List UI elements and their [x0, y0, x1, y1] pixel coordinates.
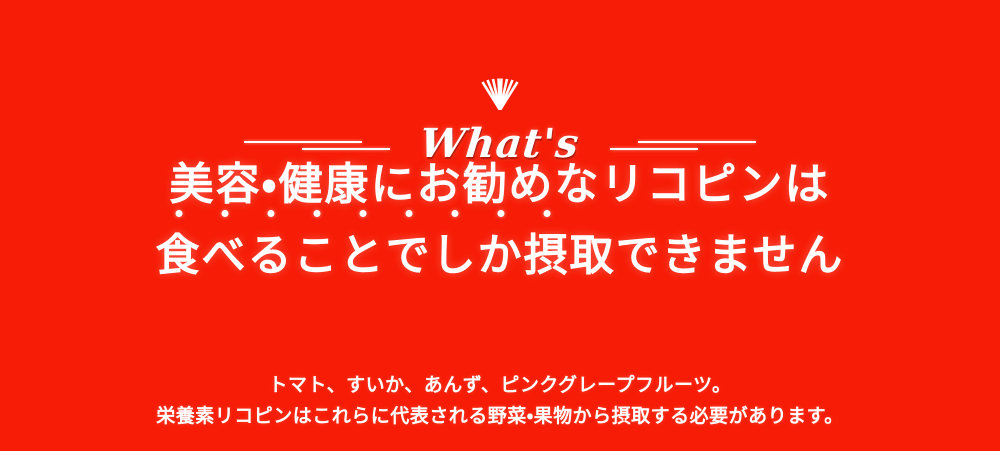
sunburst-rays-icon: [455, 78, 545, 110]
emphasized-character: で: [386, 223, 432, 288]
emphasized-character: 摂: [524, 223, 570, 288]
headline: 美容・健康にお勧めなリコピンは 食べることでしか摂取できません: [156, 152, 845, 288]
rule-ornament-right: [610, 133, 756, 155]
emphasized-character: 食: [156, 223, 202, 288]
emphasized-character: べ: [202, 223, 248, 288]
eyebrow-row: What's: [0, 116, 1000, 172]
rule-ornament-left: [244, 133, 390, 155]
eyebrow-ornament-block: What's: [0, 78, 1000, 136]
emphasized-character: し: [432, 223, 478, 288]
headline-emphasized-text: 食べることでしか摂: [156, 230, 570, 281]
lycopene-hero-section: What's 美容・健康にお勧めなリコピンは 食べることでしか摂取できません ト…: [0, 0, 1000, 451]
emphasized-character: る: [248, 223, 294, 288]
rule-line-short: [610, 148, 698, 150]
body-copy: トマト、すいか、あんず、ピンクグレープフルーツ。 栄養素リコピンはこれらに代表さ…: [156, 370, 844, 432]
rule-line-short: [302, 148, 390, 150]
eyebrow-label: What's: [418, 124, 581, 164]
rule-line-long: [244, 141, 362, 143]
body-copy-line-2: 栄養素リコピンはこれらに代表される野菜・果物から摂取する必要があります。: [156, 401, 844, 432]
emphasized-character: か: [478, 223, 524, 288]
emphasized-character: こ: [294, 223, 340, 288]
headline-line-2-rest: 取できません: [570, 230, 845, 281]
headline-line-2: 食べることでしか摂取できません: [156, 223, 845, 288]
emphasized-character: と: [340, 223, 386, 288]
rule-line-long: [638, 141, 756, 143]
body-copy-line-1: トマト、すいか、あんず、ピンクグレープフルーツ。: [156, 370, 844, 401]
